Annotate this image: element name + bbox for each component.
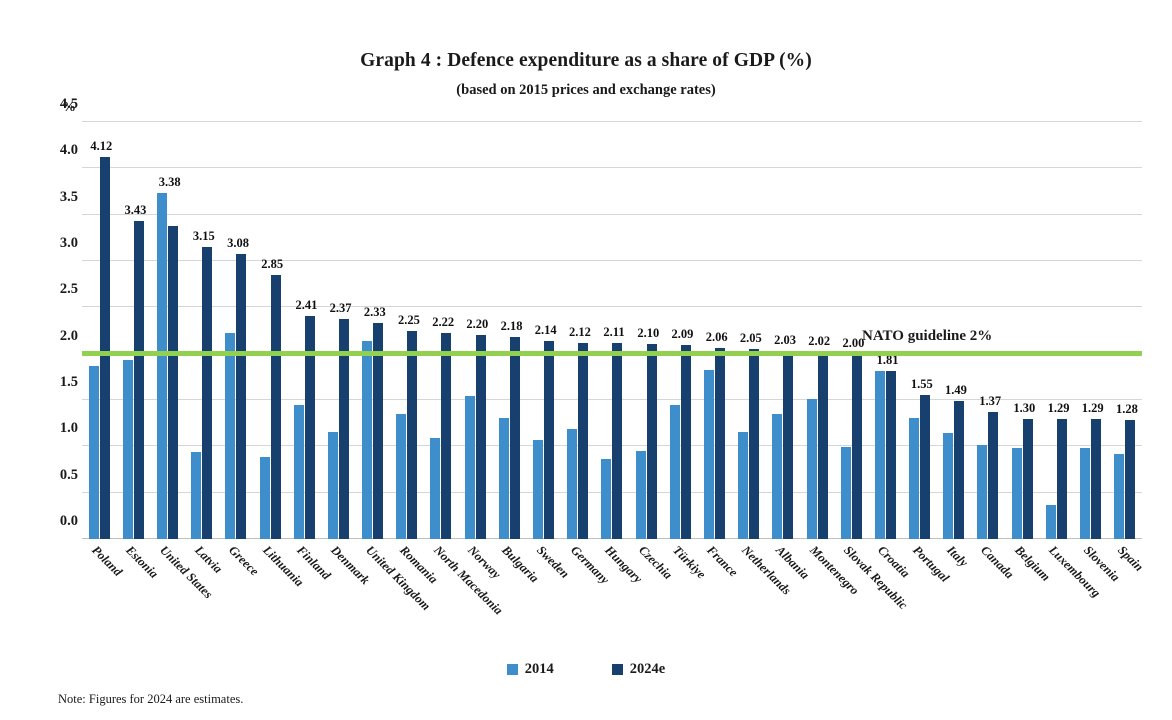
bar-value-label: 2.41 [295,298,317,313]
x-axis-label: Türkiye [663,541,697,661]
bar-group: 3.15 [185,122,219,539]
bar-value-label: 4.12 [90,139,112,154]
bar-value-label: 1.29 [1082,401,1104,416]
bar-2024e [544,341,554,539]
bar-2024e [1091,419,1101,539]
bar-2014 [294,405,304,539]
bar-value-label: 2.05 [740,331,762,346]
x-axis-label: Denmark [321,541,355,661]
bar-group: 3.38 [150,122,184,539]
bar-value-label: 2.85 [261,257,283,272]
y-axis-tick: 1.5 [18,374,78,391]
bar-value-label: 2.12 [569,325,591,340]
x-axis-label: United States [150,541,184,661]
bar-2014 [670,405,680,539]
x-axis-label: Sweden [526,541,560,661]
bar-value-label: 2.18 [501,319,523,334]
bar-value-label: 3.15 [193,229,215,244]
bar-2024e [168,226,178,539]
bar-group: 2.22 [424,122,458,539]
bar-value-label: 2.22 [432,315,454,330]
bar-2024e [749,349,759,539]
legend-swatch-icon [507,664,518,675]
bar-value-label: 3.08 [227,236,249,251]
bar-value-label: 1.37 [979,394,1001,409]
x-axis-label: Germany [561,541,595,661]
bar-value-label: 2.20 [466,317,488,332]
x-axis-label: Albania [766,541,800,661]
y-axis-tick: 2.5 [18,281,78,298]
bar-value-label: 2.11 [603,325,624,340]
bar-2024e [476,335,486,539]
nato-guideline-label: NATO guideline 2% [862,328,992,345]
bar-value-label: 2.25 [398,313,420,328]
x-axis-label: North Macedonia [424,541,458,661]
bar-2024e [681,345,691,539]
bar-2014 [191,452,201,539]
y-axis-tick: 0.0 [18,513,78,530]
bar-2014 [567,429,577,539]
bar-2024e [202,247,212,539]
bar-2024e [100,157,110,539]
legend-item-2014[interactable]: 2014 [507,661,554,678]
bar-group: 2.06 [697,122,731,539]
bar-2014 [772,414,782,539]
bar-value-label: 3.43 [125,203,147,218]
bar-2014 [875,371,885,539]
nato-guideline-line [82,351,1142,356]
x-axis-label: Croatia [868,541,902,661]
bar-2014 [225,333,235,539]
bar-group: 1.30 [1005,122,1039,539]
y-axis-tick: 4.0 [18,142,78,159]
bar-2014 [1012,448,1022,539]
x-axis-label-text: Italy [943,543,970,570]
bar-2024e [271,275,281,539]
y-axis-tick: 4.5 [18,96,78,113]
x-axis-label: Lithuania [253,541,287,661]
x-axis-label: Montenegro [800,541,834,661]
bar-2014 [636,451,646,539]
bar-2014 [465,396,475,539]
bar-2024e [236,254,246,539]
bar-2024e [1057,419,1067,539]
bar-2014 [362,341,372,539]
x-axis-label: Belgium [1005,541,1039,661]
bar-value-label: 2.14 [535,323,557,338]
bar-value-label: 1.30 [1013,401,1035,416]
y-axis-tick: 3.0 [18,235,78,252]
bar-2014 [1080,448,1090,539]
bar-2014 [841,447,851,539]
chart-note: Note: Figures for 2024 are estimates. [58,692,243,707]
x-axis-label: Greece [219,541,253,661]
x-axis-label-text: Spain [1114,543,1146,575]
x-axis-label: Romania [390,541,424,661]
legend-label: 2024e [630,661,665,678]
bar-group: 4.12 [82,122,116,539]
chart-subtitle: (based on 2015 prices and exchange rates… [0,82,1172,99]
bar-2014 [328,432,338,539]
x-axis-label: Luxembourg [1039,541,1073,661]
x-axis-label: United Kingdom [356,541,390,661]
bar-group: 3.43 [116,122,150,539]
x-axis-label: Latvia [185,541,219,661]
bar-value-label: 2.02 [808,334,830,349]
x-axis-label: France [697,541,731,661]
bar-group: 2.12 [561,122,595,539]
x-axis-label: Spain [1108,541,1142,661]
bar-group: 2.33 [356,122,390,539]
legend-label: 2014 [525,661,554,678]
bar-2014 [533,440,543,539]
bar-value-label: 2.10 [637,326,659,341]
bar-group: 2.09 [663,122,697,539]
bar-2014 [1046,505,1056,539]
bar-value-label: 1.55 [911,377,933,392]
y-axis-tick: 2.0 [18,328,78,345]
bar-2024e [886,371,896,539]
bar-value-label: 2.06 [706,330,728,345]
legend-swatch-icon [612,664,623,675]
bar-2014 [909,418,919,539]
bar-group: 2.02 [800,122,834,539]
x-axis-label: Canada [971,541,1005,661]
x-axis-label: Poland [82,541,116,661]
bar-2024e [407,331,417,540]
bar-value-label: 2.37 [330,301,352,316]
bar-2014 [157,193,167,539]
x-axis-label: Slovenia [1073,541,1107,661]
bar-2024e [647,344,657,539]
bar-group: 2.41 [287,122,321,539]
bar-2024e [134,221,144,539]
x-axis-label: Netherlands [732,541,766,661]
bar-2014 [499,418,509,539]
bar-2024e [715,348,725,539]
bar-group: 2.37 [321,122,355,539]
y-axis-tick: 3.5 [18,189,78,206]
bar-group: 2.85 [253,122,287,539]
bar-2014 [943,433,953,539]
bar-group: 2.03 [766,122,800,539]
bar-group: 2.20 [458,122,492,539]
bar-2024e [783,351,793,539]
bar-value-label: 1.29 [1048,401,1070,416]
bar-2024e [1125,420,1135,539]
bar-2024e [305,316,315,539]
y-axis-tick: 1.0 [18,420,78,437]
bar-2024e [852,354,862,539]
bar-2024e [441,333,451,539]
bar-2014 [123,360,133,539]
bar-value-label: 1.49 [945,383,967,398]
bar-value-label: 2.09 [672,327,694,342]
bar-group: 2.25 [390,122,424,539]
bar-2024e [954,401,964,539]
bar-group: 2.11 [595,122,629,539]
bar-value-label: 2.33 [364,305,386,320]
bar-group: 2.05 [732,122,766,539]
bar-2024e [818,352,828,539]
bar-2014 [807,399,817,539]
bar-group: 1.29 [1073,122,1107,539]
bar-value-label: 1.28 [1116,402,1138,417]
bar-group: 2.14 [526,122,560,539]
x-axis-label: Slovak Republic [834,541,868,661]
x-axis-label: Norway [458,541,492,661]
bar-2014 [601,459,611,539]
bar-group: 3.08 [219,122,253,539]
chart-legend: 20142024e [0,661,1172,678]
bar-2014 [89,366,99,539]
bar-value-label: 3.38 [159,175,181,190]
x-axis-label: Bulgaria [492,541,526,661]
bar-2024e [612,343,622,539]
bar-2024e [988,412,998,539]
bar-2014 [260,457,270,539]
x-axis-label: Portugal [903,541,937,661]
bar-group: 2.18 [492,122,526,539]
bar-group: 1.29 [1039,122,1073,539]
bar-group: 1.28 [1108,122,1142,539]
x-axis-labels: PolandEstoniaUnited StatesLatviaGreeceLi… [82,541,1142,661]
bar-2014 [738,432,748,539]
plot-area: 0.00.51.01.52.02.53.03.54.04.5 NATO guid… [82,122,1142,539]
x-axis-label: Estonia [116,541,150,661]
bar-2014 [977,445,987,539]
bar-value-label: 2.03 [774,333,796,348]
legend-item-2024e[interactable]: 2024e [612,661,665,678]
x-axis-label: Czechia [629,541,663,661]
bar-2014 [704,370,714,539]
y-axis-tick: 0.5 [18,467,78,484]
x-axis-label: Hungary [595,541,629,661]
bar-2014 [396,414,406,539]
bar-2024e [920,395,930,539]
bar-2024e [1023,419,1033,539]
chart-title: Graph 4 : Defence expenditure as a share… [0,50,1172,72]
chart-page: Graph 4 : Defence expenditure as a share… [0,0,1172,720]
x-axis-label: Italy [937,541,971,661]
bar-group: 2.10 [629,122,663,539]
bar-2014 [1114,454,1124,539]
bar-2014 [430,438,440,539]
x-axis-label: Finland [287,541,321,661]
bar-2024e [578,343,588,539]
bar-2024e [510,337,520,539]
